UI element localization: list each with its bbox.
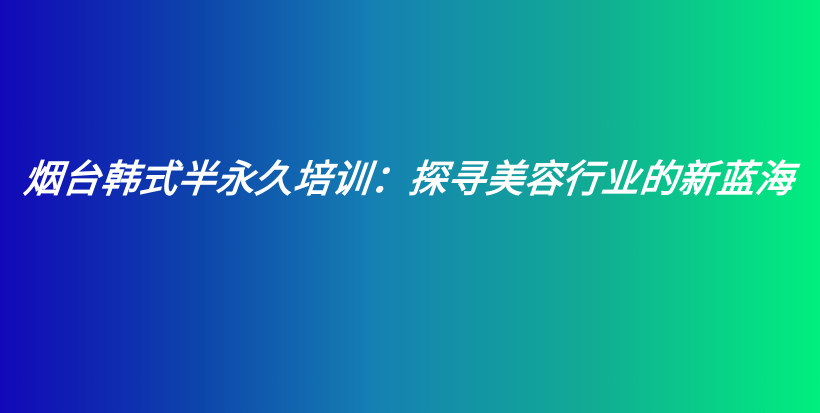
banner-headline: 烟台韩式半永久培训：探寻美容行业的新蓝海 xyxy=(22,161,796,199)
banner-root: 烟台韩式半永久培训：探寻美容行业的新蓝海 xyxy=(0,0,820,413)
headline-block: 烟台韩式半永久培训：探寻美容行业的新蓝海 xyxy=(0,0,820,413)
